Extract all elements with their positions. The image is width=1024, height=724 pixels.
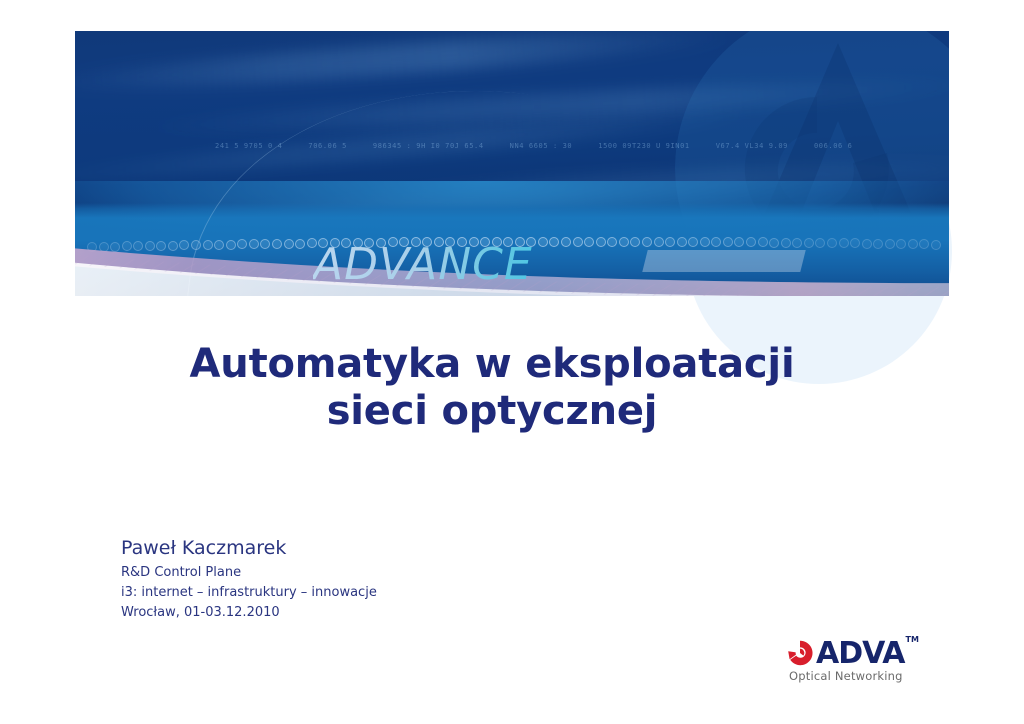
microtext-item: 006.06 6: [814, 142, 853, 150]
trademark-symbol: TM: [906, 636, 919, 644]
header-banner: 241 5 9705 0 4706.06 5986345 : 9H I0 70J…: [75, 31, 949, 296]
adva-tagline: Optical Networking: [789, 669, 935, 683]
slide-title-line-1: Automatyka w eksploatacji: [120, 341, 864, 388]
author-name: Paweł Kaczmarek: [121, 536, 377, 562]
presentation-slide: 241 5 9705 0 4706.06 5986345 : 9H I0 70J…: [0, 0, 1024, 724]
microtext-item: 986345 : 9H I0 70J 65.4: [373, 142, 484, 150]
advance-wordmark: ADVANCE: [313, 243, 533, 287]
author-role: R&D Control Plane: [121, 563, 377, 583]
microtext-item: 706.06 5: [308, 142, 347, 150]
microtext-item: 1500 09T230 U 9IN01: [598, 142, 689, 150]
microtext-item: NN4 6605 : 30: [510, 142, 573, 150]
microtext-item: V67.4 VL34 9.09: [716, 142, 788, 150]
author-location-date: Wrocław, 01-03.12.2010: [121, 603, 377, 623]
microtext-item: 241 5 9705 0 4: [215, 142, 282, 150]
adva-wordmark: ADVA: [816, 641, 905, 667]
adva-circle-arrow-icon: [787, 640, 813, 666]
author-block: Paweł Kaczmarek R&D Control Plane i3: in…: [121, 536, 377, 623]
banner-microtext: 241 5 9705 0 4706.06 5986345 : 9H I0 70J…: [75, 139, 949, 153]
slide-title-line-2: sieci optycznej: [120, 388, 864, 435]
slide-title: Automatyka w eksploatacji sieci optyczne…: [120, 341, 864, 435]
adva-logo: ADVA TM Optical Networking: [787, 636, 935, 686]
author-event: i3: internet – infrastruktury – innowacj…: [121, 583, 377, 603]
